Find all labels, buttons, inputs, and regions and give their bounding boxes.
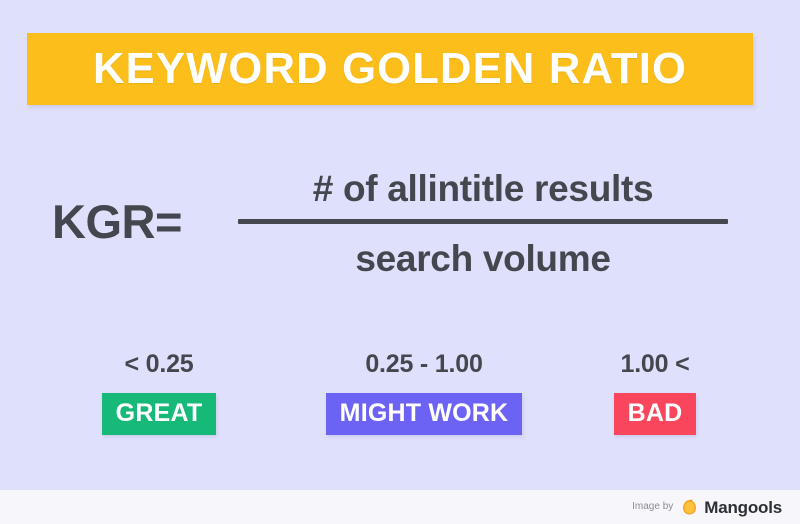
kgr-formula: KGR= # of allintitle results search volu… — [0, 170, 800, 310]
range-value-might-work: 0.25 - 1.00 — [365, 352, 482, 377]
footer-attribution: Image by Mangools — [0, 490, 800, 524]
title-banner: KEYWORD GOLDEN RATIO — [27, 33, 753, 105]
range-value-bad: 1.00 < — [620, 352, 689, 377]
range-group-great: < 0.25 GREAT — [0, 352, 318, 435]
range-group-might-work: 0.25 - 1.00 MIGHT WORK — [318, 352, 530, 435]
footer-brand-name: Mangools — [704, 499, 782, 516]
formula-denominator: search volume — [238, 224, 728, 277]
page-title: KEYWORD GOLDEN RATIO — [93, 47, 687, 91]
range-group-bad: 1.00 < BAD — [530, 352, 780, 435]
formula-fraction: # of allintitle results search volume — [238, 170, 728, 277]
range-value-great: < 0.25 — [124, 352, 193, 377]
formula-left-term: KGR= — [52, 198, 182, 245]
status-badge-great: GREAT — [102, 393, 217, 435]
mango-icon — [682, 499, 697, 515]
status-badge-might-work: MIGHT WORK — [326, 393, 523, 435]
formula-numerator: # of allintitle results — [238, 170, 728, 219]
infographic-canvas: KEYWORD GOLDEN RATIO KGR= # of allintitl… — [0, 0, 800, 524]
range-legend: < 0.25 GREAT 0.25 - 1.00 MIGHT WORK 1.00… — [0, 352, 800, 435]
footer-credit-label: Image by — [632, 502, 673, 512]
status-badge-bad: BAD — [614, 393, 697, 435]
